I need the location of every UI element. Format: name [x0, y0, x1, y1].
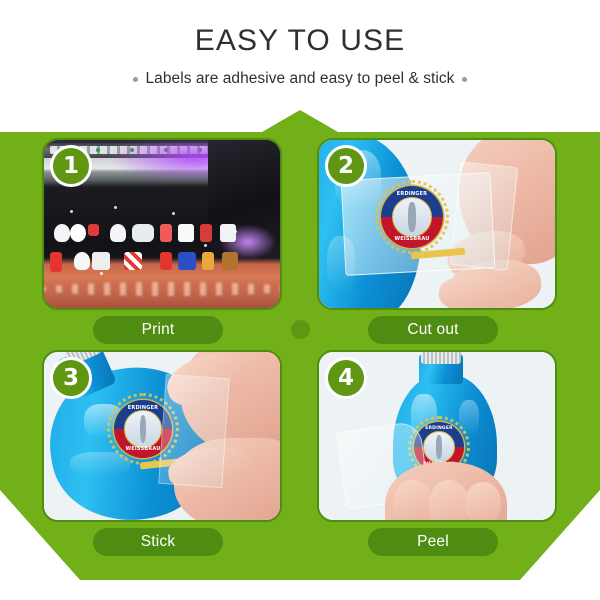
step-panel-4[interactable]: ERDINGER WEISSBRAU 4 — [317, 350, 557, 522]
infographic-page: EASY TO USE Labels are adhesive and easy… — [0, 0, 600, 600]
page-subtitle: Labels are adhesive and easy to peel & s… — [146, 70, 455, 88]
step-caption-2[interactable]: Cut out — [368, 316, 498, 344]
step-panel-1[interactable]: 1 — [42, 138, 282, 310]
step-badge-4: 4 — [325, 357, 367, 399]
center-divider-dot-icon — [291, 320, 310, 339]
step-panel-2[interactable]: ERDINGER WEISSBRAU 2 — [317, 138, 557, 310]
bullet-dot-right-icon — [462, 77, 467, 82]
step-badge-2: 2 — [325, 145, 367, 187]
header: EASY TO USE Labels are adhesive and easy… — [0, 0, 600, 118]
subtitle-row: Labels are adhesive and easy to peel & s… — [0, 70, 600, 88]
step-badge-3: 3 — [50, 357, 92, 399]
step-caption-3[interactable]: Stick — [93, 528, 223, 556]
steps-container: 1 ERDIN — [0, 110, 600, 580]
bullet-dot-left-icon — [133, 77, 138, 82]
page-title: EASY TO USE — [0, 24, 600, 57]
step-badge-1: 1 — [50, 145, 92, 187]
step-panel-3[interactable]: ERDINGER WEISSBRAU 3 — [42, 350, 282, 522]
step-caption-1[interactable]: Print — [93, 316, 223, 344]
step-caption-4[interactable]: Peel — [368, 528, 498, 556]
